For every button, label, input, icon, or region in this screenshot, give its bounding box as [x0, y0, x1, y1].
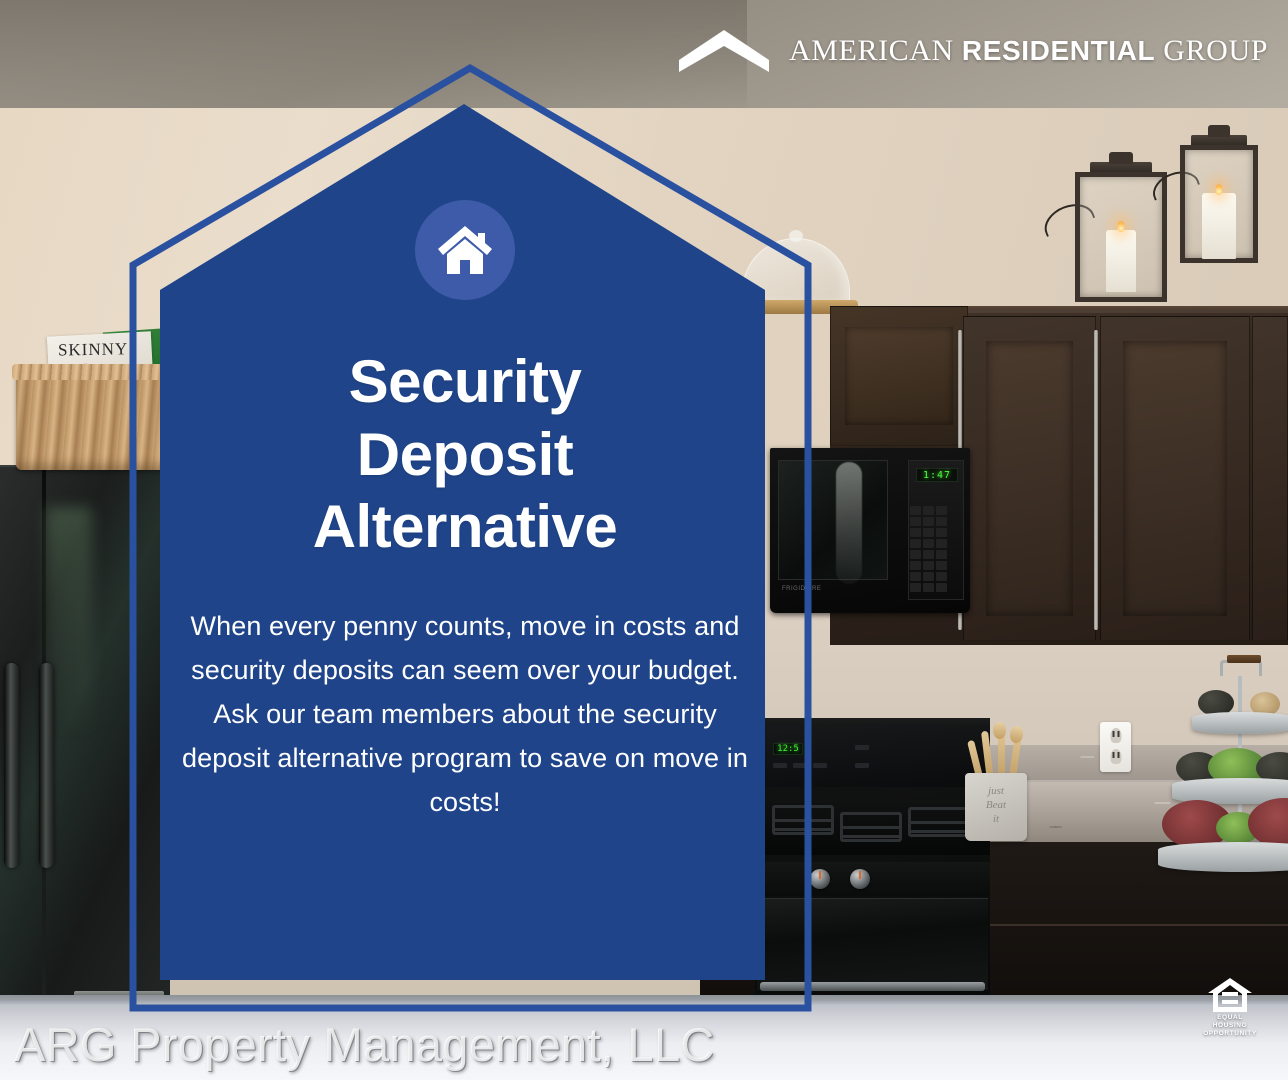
body-copy: When every penny counts, move in costs a…	[160, 604, 770, 824]
headline-line-1: Security	[160, 346, 770, 419]
eho-line-2: OPPORTUNITY	[1200, 1030, 1260, 1038]
brand-logo-text: AMERICAN RESIDENTIAL GROUP	[789, 34, 1268, 68]
marketing-flyer: 1:47 FRIGIDAIRE SKINNY POP 12:5	[0, 0, 1288, 1080]
brand-logo: AMERICAN RESIDENTIAL GROUP	[677, 28, 1268, 74]
headline-line-2: Deposit	[160, 419, 770, 492]
page-title: Security Deposit Alternative	[160, 346, 770, 564]
equal-housing-opportunity-icon	[1205, 976, 1255, 1014]
equal-housing-opportunity-badge: EQUAL HOUSING OPPORTUNITY	[1200, 976, 1260, 1038]
logo-word-group: GROUP	[1155, 34, 1268, 67]
eho-line-1: EQUAL HOUSING	[1200, 1014, 1260, 1030]
house-icon-badge	[415, 200, 515, 300]
chevron-roof-mark	[677, 28, 771, 74]
logo-word-american: AMERICAN	[789, 34, 962, 67]
logo-word-residential: RESIDENTIAL	[962, 35, 1155, 66]
headline-line-3: Alternative	[160, 491, 770, 564]
company-watermark: ARG Property Management, LLC	[14, 1017, 715, 1072]
promo-card-content: Security Deposit Alternative When every …	[160, 200, 770, 824]
house-icon	[434, 222, 496, 278]
